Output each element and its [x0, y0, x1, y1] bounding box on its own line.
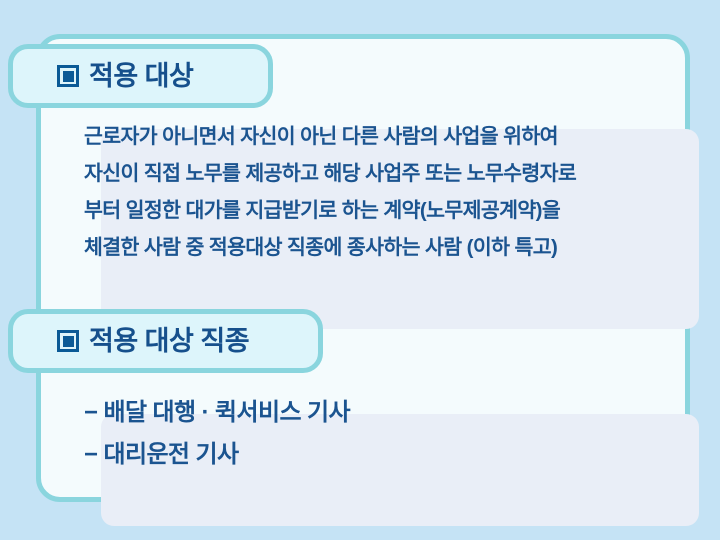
section-header-job-types: 적용 대상 직종 — [8, 309, 323, 373]
filled-square-bullet-icon — [57, 65, 79, 87]
scope-description-text: 근로자가 아니면서 자신이 아닌 다른 사람의 사업을 위하여 자신이 직접 노… — [84, 118, 654, 266]
filled-square-bullet-icon — [57, 330, 79, 352]
section-header-job-types-label: 적용 대상 직종 — [89, 328, 249, 355]
scope-line: 근로자가 아니면서 자신이 아닌 다른 사람의 사업을 위하여 — [84, 118, 654, 155]
section-header-scope-label: 적용 대상 — [89, 63, 193, 90]
section-header-scope: 적용 대상 — [8, 44, 273, 108]
scope-line: 자신이 직접 노무를 제공하고 해당 사업주 또는 노무수령자로 — [84, 155, 654, 192]
list-item: − 배달 대행 · 퀵서비스 기사 — [84, 392, 654, 434]
scope-line: 체결한 사람 중 적용대상 직종에 종사하는 사람 (이하 특고) — [84, 229, 654, 266]
list-item: − 대리운전 기사 — [84, 434, 654, 476]
job-types-list: − 배달 대행 · 퀵서비스 기사 − 대리운전 기사 — [84, 392, 654, 476]
scope-line: 부터 일정한 대가를 지급받기로 하는 계약(노무제공계약)을 — [84, 192, 654, 229]
